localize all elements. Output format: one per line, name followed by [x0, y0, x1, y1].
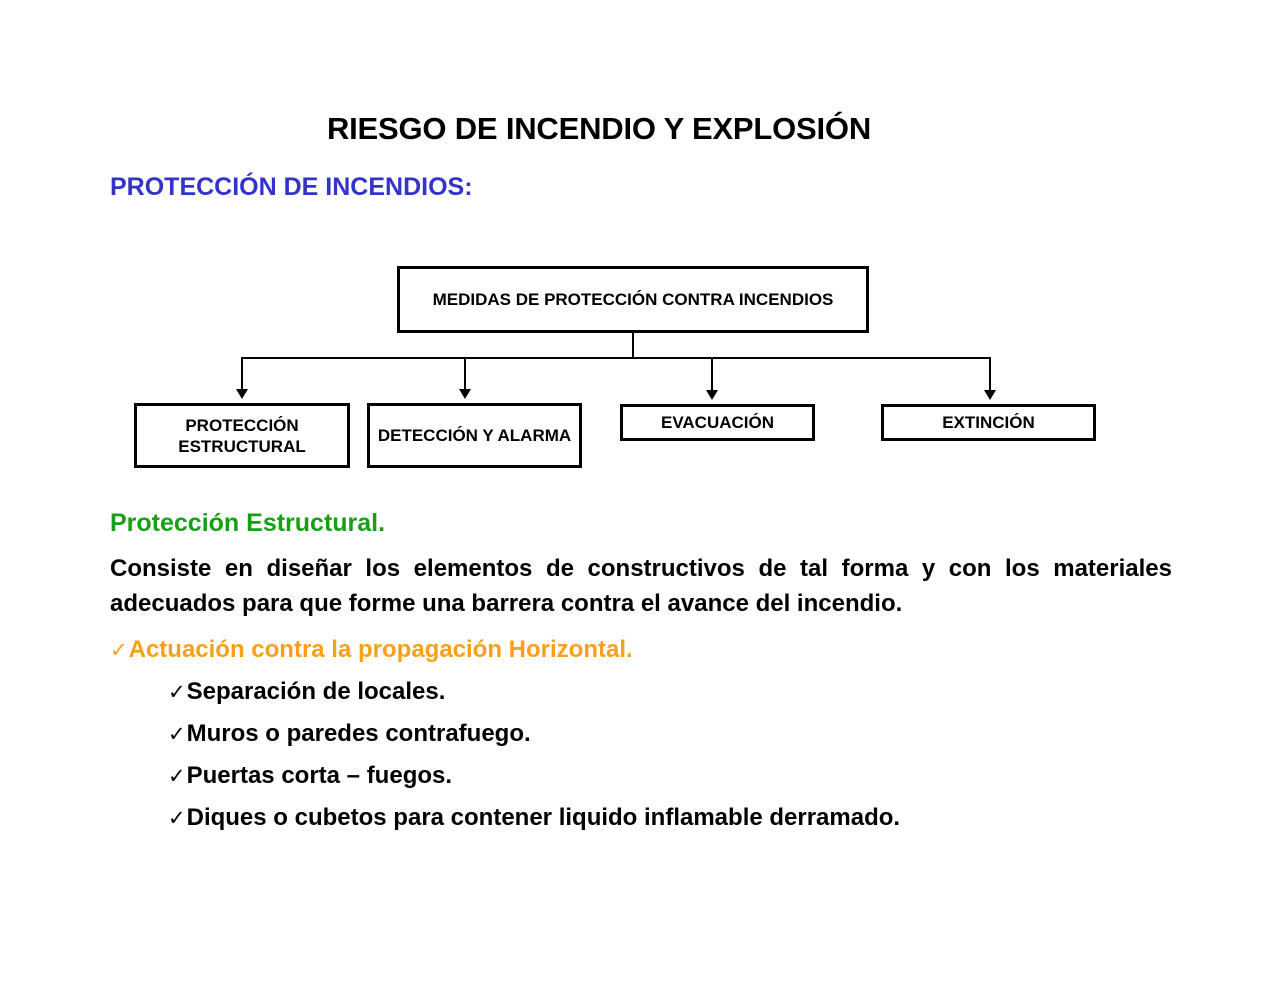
check-icon: ✓ — [168, 766, 186, 787]
bullet-item-sub: ✓ Separación de locales. — [168, 671, 1172, 713]
connector-drop-extincion — [989, 357, 991, 390]
bullet-item-sub: ✓ Diques o cubetos para contener liquido… — [168, 797, 1172, 839]
bullet-label: Diques o cubetos para contener liquido i… — [187, 797, 900, 839]
diagram-node-proteccion-estructural: PROTECCIÓN ESTRUCTURAL — [134, 403, 350, 468]
diagram-node-deteccion-alarma: DETECCIÓN Y ALARMA — [367, 403, 582, 468]
protection-measures-diagram: MEDIDAS DE PROTECCIÓN CONTRA INCENDIOS P… — [0, 0, 1280, 500]
connector-drop-evacuacion — [711, 357, 713, 390]
section-subtitle: PROTECCIÓN DE INCENDIOS: — [110, 172, 473, 202]
check-icon: ✓ — [168, 682, 186, 703]
check-icon: ✓ — [110, 640, 128, 661]
bullet-label: Puertas corta – fuegos. — [187, 755, 452, 797]
bullet-item-sub: ✓ Muros o paredes contrafuego. — [168, 713, 1172, 755]
arrow-down-icon — [706, 390, 718, 400]
connector-drop-estructural — [241, 357, 243, 390]
connector-drop-deteccion — [464, 357, 466, 390]
lead-paragraph: Consiste en diseñar los elementos de con… — [110, 551, 1172, 621]
arrow-down-icon — [236, 389, 248, 399]
bullet-label: Actuación contra la propagación Horizont… — [129, 629, 633, 671]
page-title: RIESGO DE INCENDIO Y EXPLOSIÓN — [0, 111, 1198, 147]
check-icon: ✓ — [168, 724, 186, 745]
bullet-item-sub: ✓ Puertas corta – fuegos. — [168, 755, 1172, 797]
diagram-node-evacuacion: EVACUACIÓN — [620, 404, 815, 441]
arrow-down-icon — [459, 389, 471, 399]
bullet-item-primary: ✓ Actuación contra la propagación Horizo… — [110, 629, 1172, 671]
diagram-node-root: MEDIDAS DE PROTECCIÓN CONTRA INCENDIOS — [397, 266, 869, 333]
connector-horizontal-bus — [241, 357, 991, 359]
bullet-label: Muros o paredes contrafuego. — [187, 713, 531, 755]
check-icon: ✓ — [168, 808, 186, 829]
diagram-node-extincion: EXTINCIÓN — [881, 404, 1096, 441]
lead-heading: Protección Estructural. — [110, 508, 1172, 538]
body-content: Protección Estructural. Consiste en dise… — [110, 508, 1172, 839]
arrow-down-icon — [984, 390, 996, 400]
bullet-label: Separación de locales. — [187, 671, 446, 713]
connector-root-stem — [632, 333, 634, 358]
